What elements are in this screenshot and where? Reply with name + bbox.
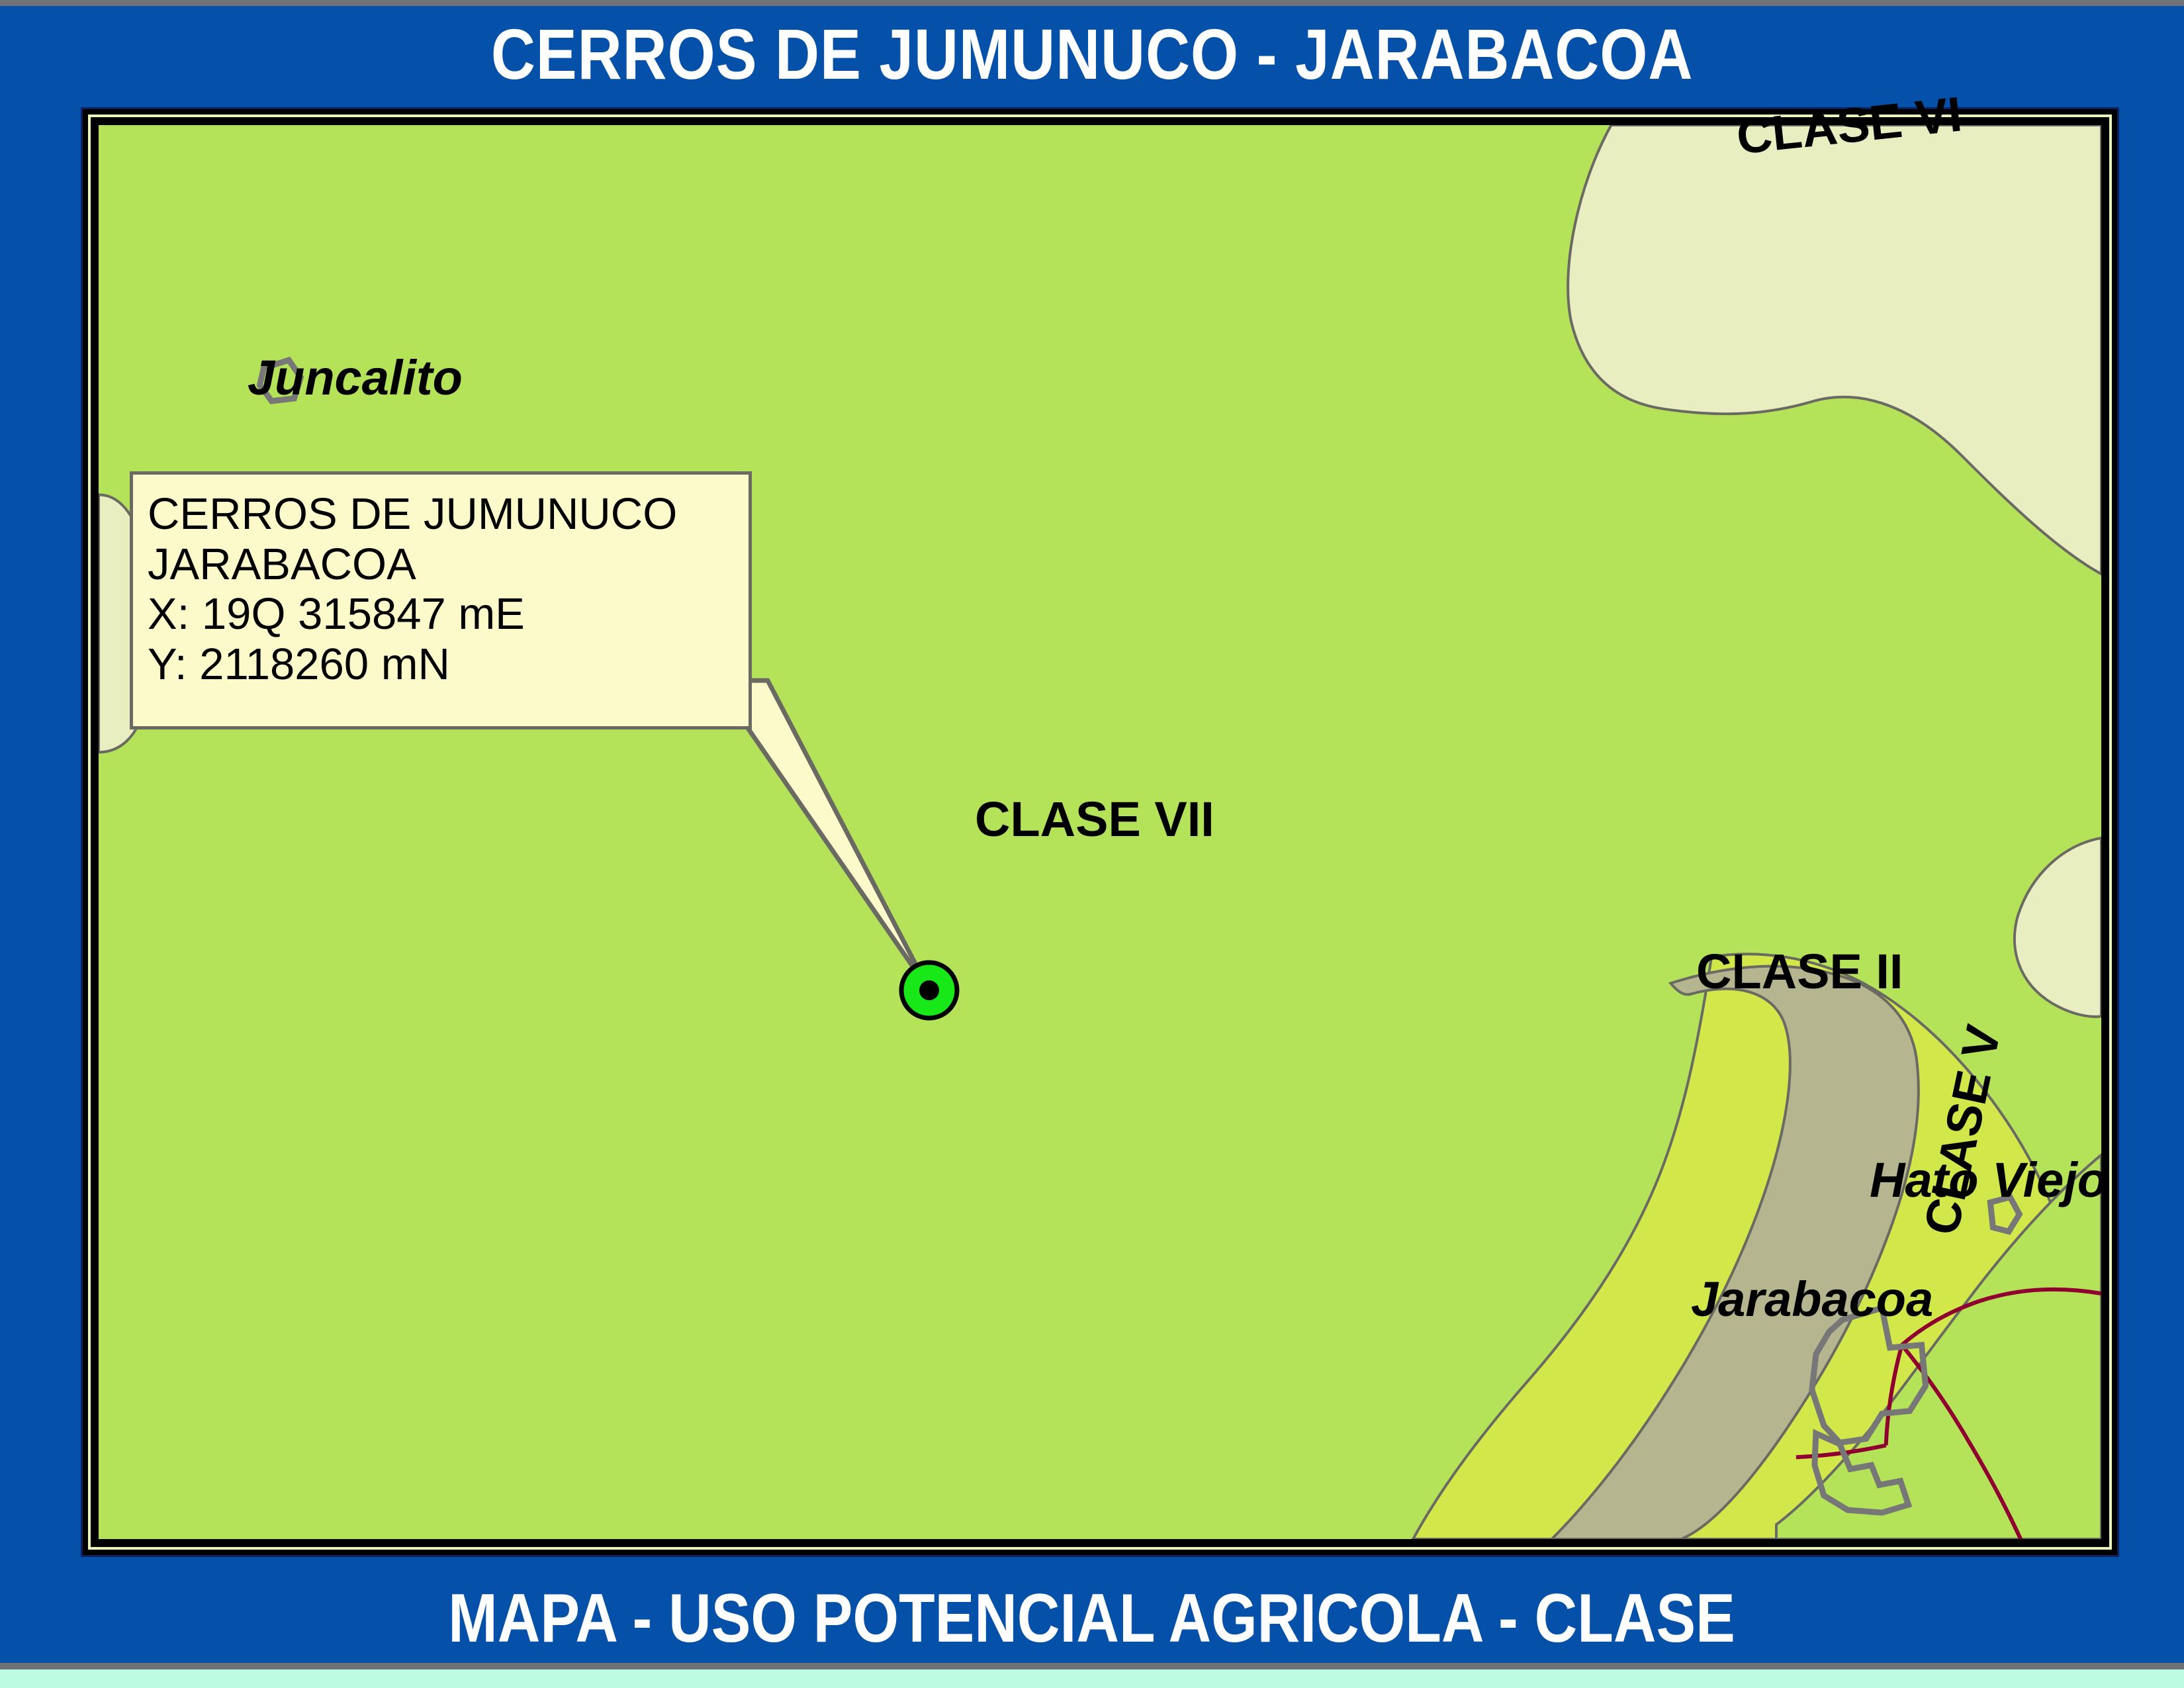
map-caption-bar: MAPA - USO POTENCIAL AGRICOLA - CLASE	[0, 1575, 2184, 1662]
page-caption: MAPA - USO POTENCIAL AGRICOLA - CLASE	[449, 1579, 1736, 1658]
bottom-edge-strip	[0, 1663, 2184, 1669]
callout-line-municipality: JARABACOA	[148, 539, 749, 590]
top-edge-strip	[0, 0, 2184, 6]
page-title: CERROS DE JUMUNUCO - JARABACOA	[491, 13, 1693, 95]
callout-line-site-name: CERROS DE JUMUNUCO	[148, 489, 749, 539]
callout-line-easting: X: 19Q 315847 mE	[148, 589, 749, 639]
map-frame-outer	[81, 107, 2119, 1557]
coordinates-callout-box[interactable]: CERROS DE JUMUNUCO JARABACOA X: 19Q 3158…	[130, 471, 752, 729]
map-title-bar: CERROS DE JUMUNUCO - JARABACOA	[0, 6, 2184, 102]
callout-line-northing: Y: 2118260 mN	[148, 639, 749, 690]
map-canvas[interactable]	[99, 125, 2101, 1539]
map-page: CERROS DE JUMUNUCO - JARABACOA	[0, 0, 2184, 1688]
bottom-cyan-strip	[0, 1669, 2184, 1688]
map-geometry	[99, 125, 2101, 1539]
map-frame-inner	[88, 115, 2112, 1550]
